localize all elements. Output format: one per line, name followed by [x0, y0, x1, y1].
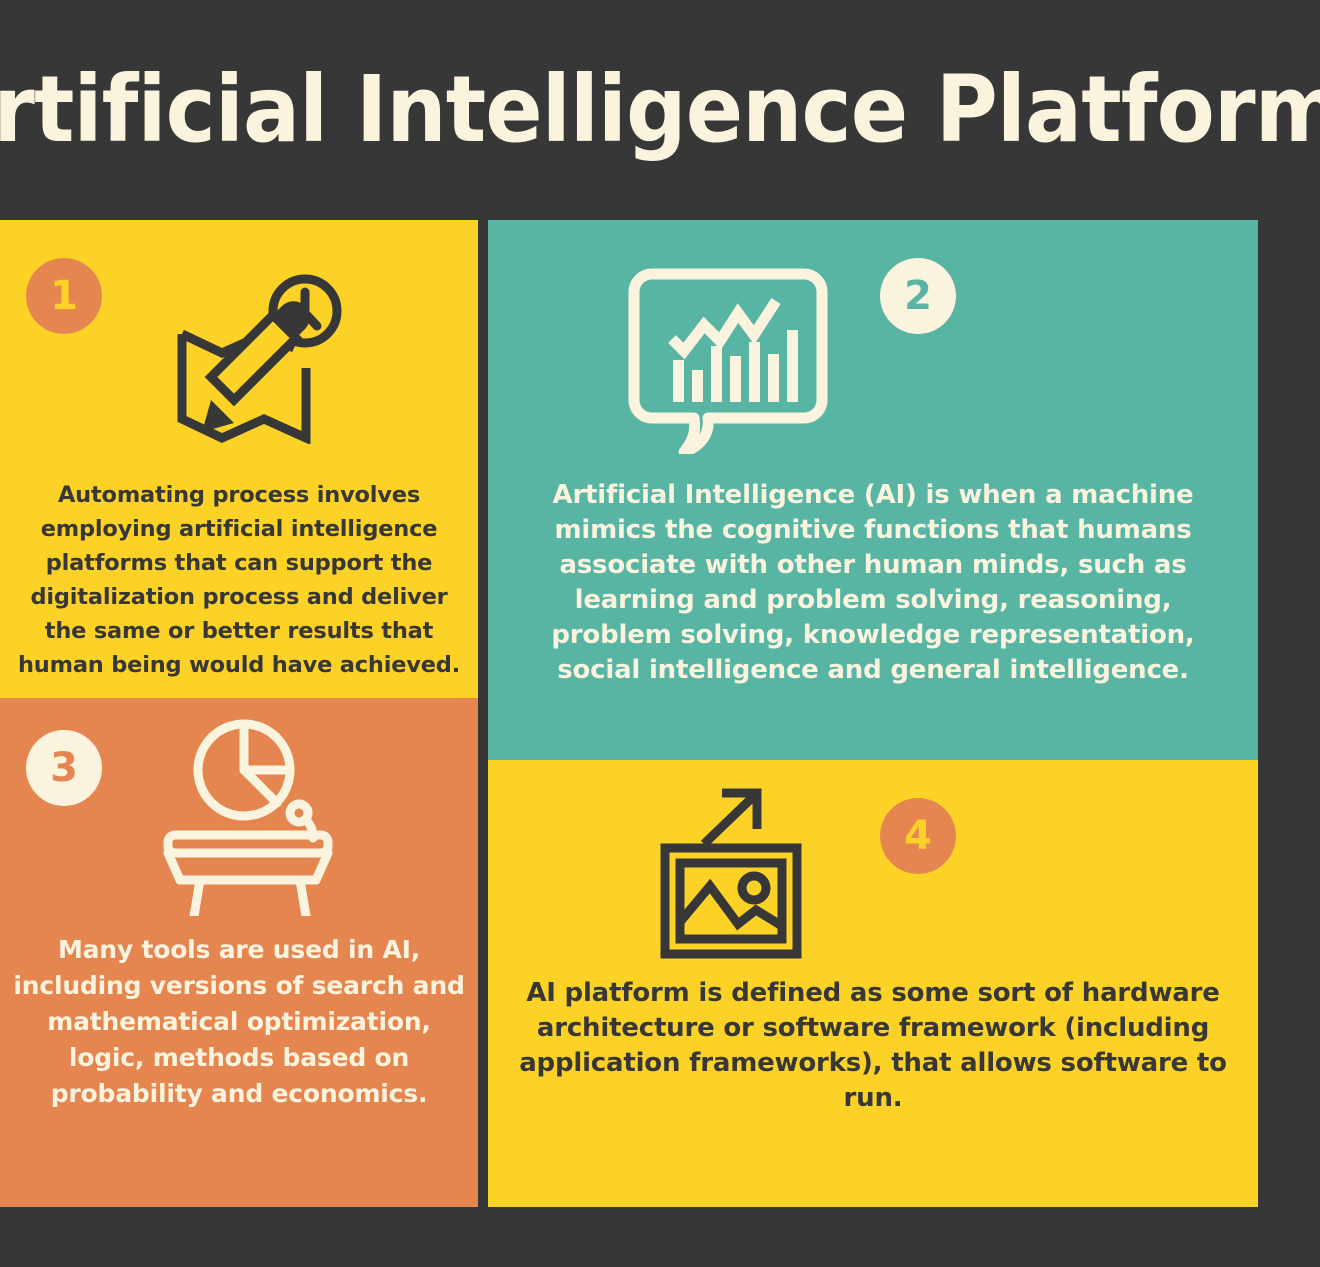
map-pencil-clock-icon — [172, 272, 344, 444]
image-frame-arrow-icon — [656, 782, 816, 962]
panel-2-number-badge: 2 — [880, 258, 956, 334]
panel-4-number: 4 — [904, 816, 932, 856]
panel-1-body-text: Automating process involves employing ar… — [14, 478, 464, 682]
speech-bubble-chart-icon — [628, 268, 828, 454]
panel-1-number: 1 — [50, 276, 78, 316]
panel-4[interactable]: 4 AI platform is defined as some sort of… — [488, 760, 1258, 1207]
panel-2-number: 2 — [904, 276, 932, 316]
panel-3-number: 3 — [50, 748, 78, 788]
infographic-poster: Artificial Intelligence Platforms 1 — [0, 0, 1320, 1267]
panel-grid: 1 Automating process involves employing … — [0, 220, 1258, 1207]
page-title: Artificial Intelligence Platforms — [0, 64, 1320, 156]
panel-3[interactable]: 3 Many tools are used in AI — [0, 698, 478, 1207]
panel-1-number-badge: 1 — [26, 258, 102, 334]
panel-3-body-text: Many tools are used in AI, including ver… — [12, 932, 466, 1112]
podium-pie-chart-icon — [160, 716, 342, 916]
panel-4-number-badge: 4 — [880, 798, 956, 874]
panel-1[interactable]: 1 Automating process involves employing … — [0, 220, 478, 698]
panel-2-body-text: Artificial Intelligence (AI) is when a m… — [532, 478, 1214, 688]
panel-2[interactable]: 2 Artificial Intelligence (AI) — [488, 220, 1258, 760]
panel-4-body-text: AI platform is defined as some sort of h… — [508, 976, 1238, 1116]
panel-3-number-badge: 3 — [26, 730, 102, 806]
poster-header: Artificial Intelligence Platforms — [0, 0, 1320, 220]
